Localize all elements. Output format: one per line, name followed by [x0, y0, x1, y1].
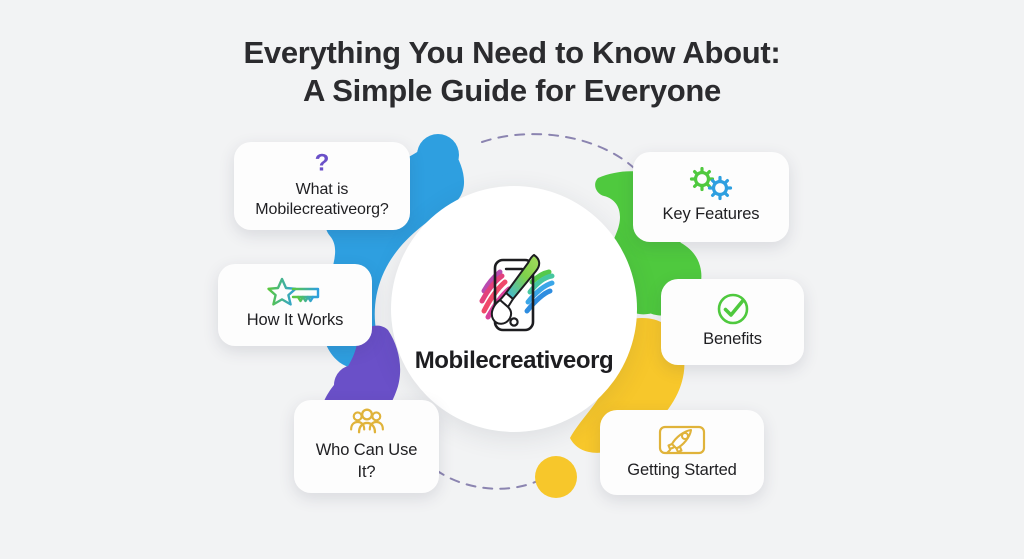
phone-paintbrush-icon: [462, 247, 566, 341]
people-group-icon: [345, 408, 389, 436]
brand-name: Mobilecreativeorg: [415, 347, 614, 375]
card-what-is[interactable]: ? What is Mobilecreativeorg?: [234, 142, 410, 230]
card-key-features-label: Key Features: [663, 204, 760, 225]
card-who-can-use-it-label-line1: Who Can Use: [316, 439, 418, 461]
infographic-canvas: Everything You Need to Know About: A Sim…: [0, 0, 1024, 559]
blue-dot: [417, 134, 459, 176]
rocket-icon: [657, 423, 707, 457]
check-circle-icon: [716, 292, 750, 326]
card-key-features[interactable]: Key Features: [633, 152, 789, 242]
yellow-dot: [535, 456, 577, 498]
svg-text:?: ?: [315, 150, 330, 176]
question-mark-icon: ?: [309, 150, 335, 177]
gears-icon: [685, 167, 737, 201]
star-key-icon: [266, 277, 324, 307]
card-who-can-use-it[interactable]: Who Can Use It?: [294, 400, 439, 493]
dashed-arc-top: [482, 134, 634, 168]
card-benefits[interactable]: Benefits: [661, 279, 804, 365]
card-what-is-label-line1: What is: [296, 180, 349, 200]
card-getting-started[interactable]: Getting Started: [600, 410, 764, 495]
card-who-can-use-it-label-line2: It?: [357, 461, 375, 483]
center-brand-circle: Mobilecreativeorg: [391, 186, 637, 432]
card-what-is-label-line2: Mobilecreativeorg?: [255, 200, 388, 220]
purple-dot: [334, 365, 374, 405]
card-getting-started-label: Getting Started: [627, 460, 736, 481]
card-benefits-label: Benefits: [703, 329, 762, 350]
card-how-it-works-label: How It Works: [247, 310, 344, 331]
card-how-it-works[interactable]: How It Works: [218, 264, 372, 346]
